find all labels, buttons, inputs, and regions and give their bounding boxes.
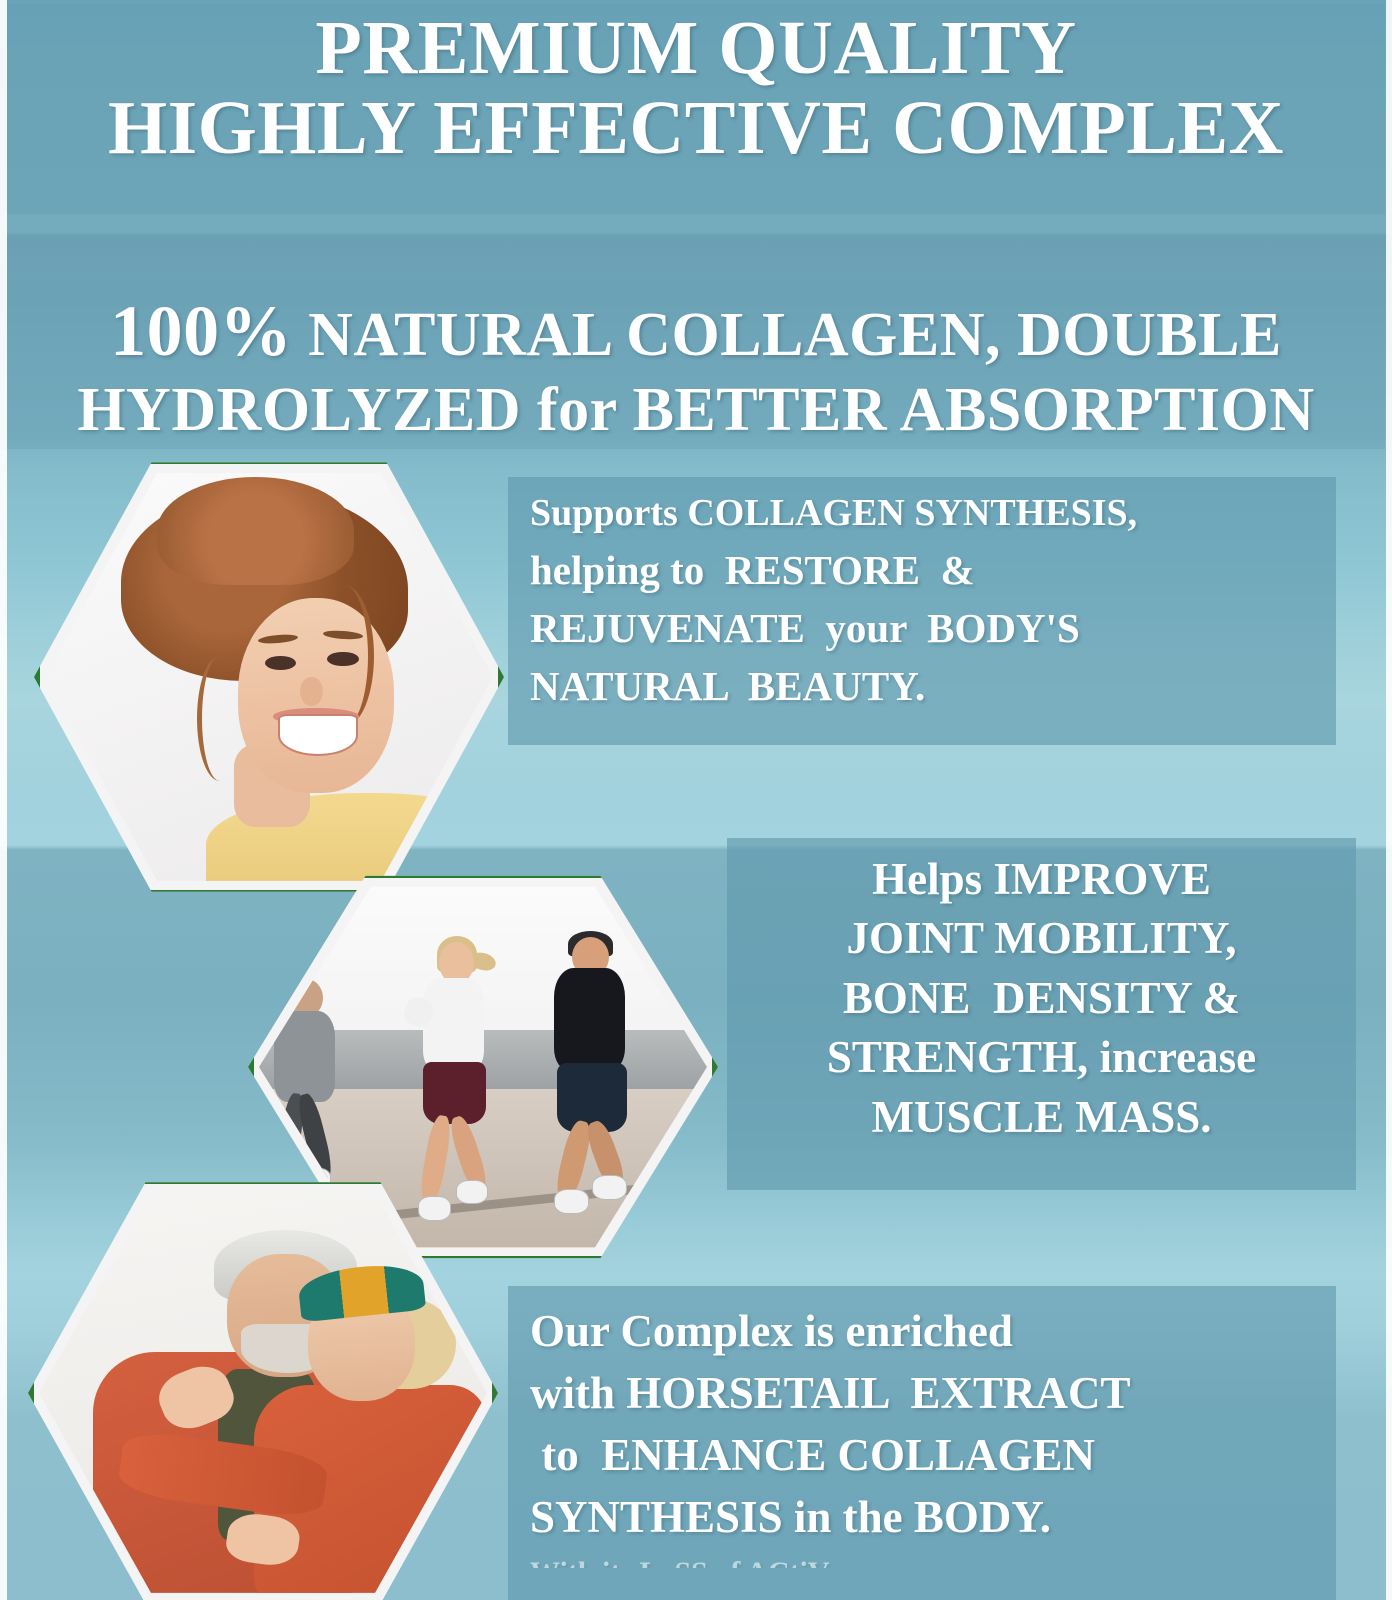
benefit-line: REJUVENATE your BODY'S <box>530 599 1324 657</box>
banner-natural-collagen: 100% NATURAL COLLAGEN, DOUBLE HYDROLYZED… <box>7 279 1385 449</box>
benefit-line: JOINT MOBILITY, <box>741 909 1342 968</box>
benefit-line: STRENGTH, increase <box>741 1028 1342 1087</box>
benefit-panel-collagen-synthesis: Supports COLLAGEN SYNTHESIS, helping to … <box>508 477 1336 745</box>
benefit-line: Our Complex is enriched <box>530 1300 1324 1362</box>
benefit-line: MUSCLE MASS. <box>741 1088 1342 1147</box>
banner-line-premium-quality: PREMIUM QUALITY <box>7 10 1385 88</box>
benefit-panel-horsetail-extract: Our Complex is enriched with HORSETAIL E… <box>508 1286 1336 1600</box>
percent-value: 100% <box>110 291 292 371</box>
benefit-line: Helps IMPROVE <box>741 850 1342 909</box>
benefit-line: Supports COLLAGEN SYNTHESIS, <box>530 487 1324 541</box>
right-edge-strip <box>1386 0 1392 1600</box>
banner-line-highly-effective-complex: HIGHLY EFFECTIVE COMPLEX <box>7 90 1385 168</box>
left-edge-strip <box>0 0 7 1600</box>
banner-premium-quality: PREMIUM QUALITY HIGHLY EFFECTIVE COMPLEX <box>7 4 1385 214</box>
benefit-line: to ENHANCE COLLAGEN <box>530 1424 1324 1486</box>
banner-line-100-natural: 100% NATURAL COLLAGEN, DOUBLE <box>7 289 1385 374</box>
percent-rest: NATURAL COLLAGEN, DOUBLE <box>292 301 1282 369</box>
benefit-line: with HORSETAIL EXTRACT <box>530 1362 1324 1424</box>
benefit-panel-joint-mobility: Helps IMPROVE JOINT MOBILITY, BONE DENSI… <box>727 838 1356 1190</box>
benefit-line: NATURAL BEAUTY. <box>530 657 1324 715</box>
benefit-line: helping to RESTORE & <box>530 541 1324 599</box>
benefit-line: BONE DENSITY & <box>741 969 1342 1028</box>
banner-line-hydrolyzed: HYDROLYZED for BETTER ABSORPTION <box>7 374 1385 447</box>
product-infographic-poster: PREMIUM QUALITY HIGHLY EFFECTIVE COMPLEX… <box>0 0 1392 1600</box>
benefit-line: SYNTHESIS in the BODY. <box>530 1486 1324 1548</box>
benefit-line-cut-off: With its LoSS of ACtiV <box>530 1552 1324 1568</box>
